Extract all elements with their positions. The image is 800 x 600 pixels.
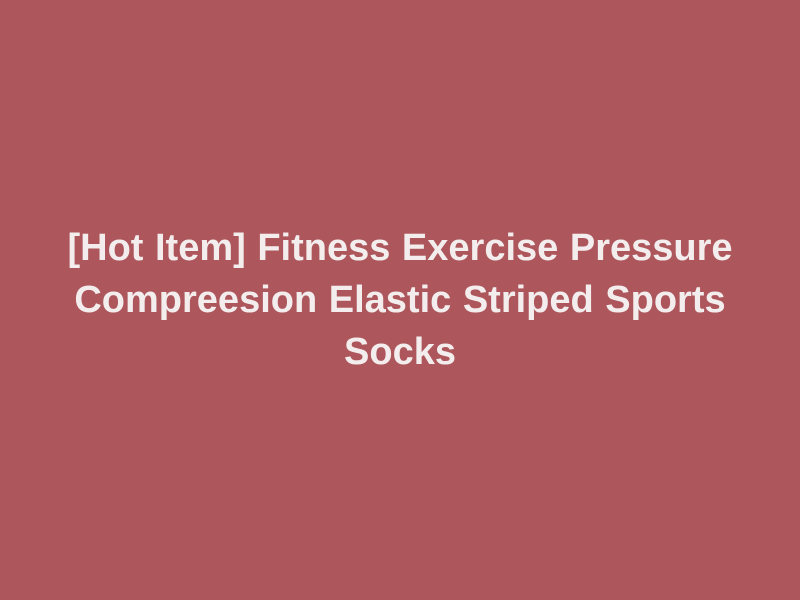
product-title: [Hot Item] Fitness Exercise Pressure Com… xyxy=(60,222,740,378)
image-placeholder-card: [Hot Item] Fitness Exercise Pressure Com… xyxy=(0,0,800,600)
title-block: [Hot Item] Fitness Exercise Pressure Com… xyxy=(60,222,740,378)
